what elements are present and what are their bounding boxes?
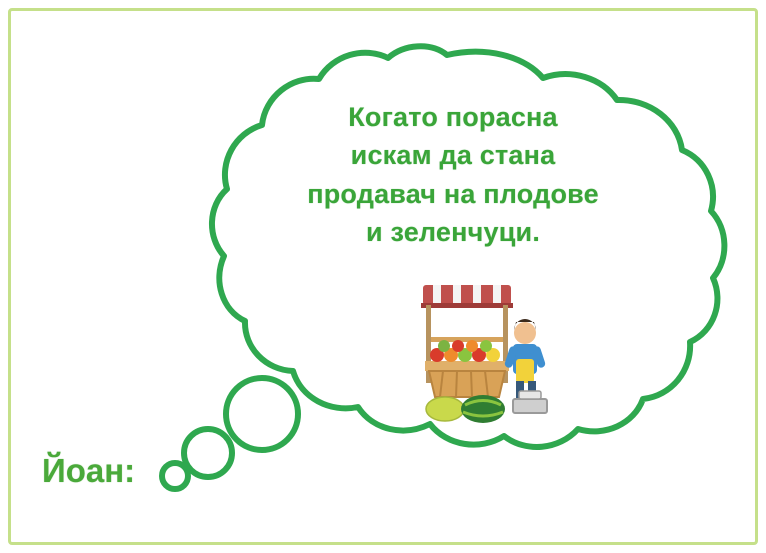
speaker-name-label: Йоан: bbox=[42, 452, 135, 490]
thought-line-4: и зеленчуци. bbox=[268, 213, 638, 251]
thought-line-1: Когато порасна bbox=[268, 98, 638, 136]
thought-line-2: искам да стана bbox=[268, 136, 638, 174]
fruit-vegetable-stall-icon bbox=[395, 275, 565, 435]
slide-canvas: Когато порасна искам да стана продавач н… bbox=[0, 0, 766, 553]
thought-line-3: продавач на плодове bbox=[268, 175, 638, 213]
thought-bubble-text: Когато порасна искам да стана продавач н… bbox=[268, 98, 638, 251]
